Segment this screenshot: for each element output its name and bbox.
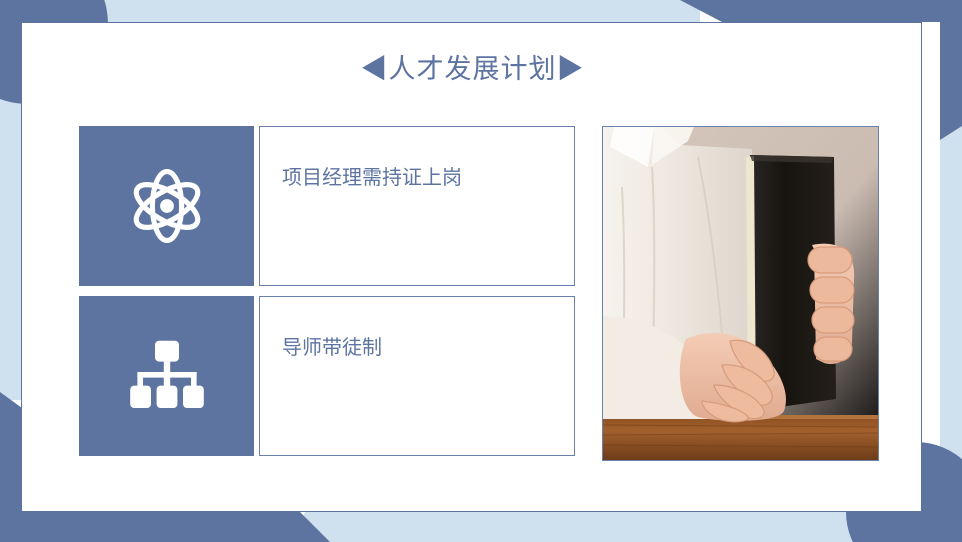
items-column: 项目经理需持证上岗 (79, 126, 575, 461)
slide: ◀人才发展计划▶ (0, 0, 962, 542)
right-band-dark (940, 0, 962, 140)
person-holding-black-book-photo (602, 126, 879, 461)
atom-icon-tile (79, 126, 254, 286)
org-chart-icon-tile (79, 296, 254, 456)
list-item[interactable]: 项目经理需持证上岗 (79, 126, 575, 286)
item-label: 项目经理需持证上岗 (282, 165, 462, 192)
org-chart-icon (127, 339, 207, 413)
item-text-box: 项目经理需持证上岗 (259, 126, 575, 286)
page-title: ◀人才发展计划▶ (22, 47, 923, 86)
left-band-dark (0, 378, 22, 542)
slide-page: ◀人才发展计划▶ (21, 22, 922, 512)
item-text-box: 导师带徒制 (259, 296, 575, 456)
list-item[interactable]: 导师带徒制 (79, 296, 575, 456)
item-label: 导师带徒制 (282, 335, 382, 362)
atom-icon (124, 163, 210, 249)
content-area: 项目经理需持证上岗 (79, 126, 879, 461)
